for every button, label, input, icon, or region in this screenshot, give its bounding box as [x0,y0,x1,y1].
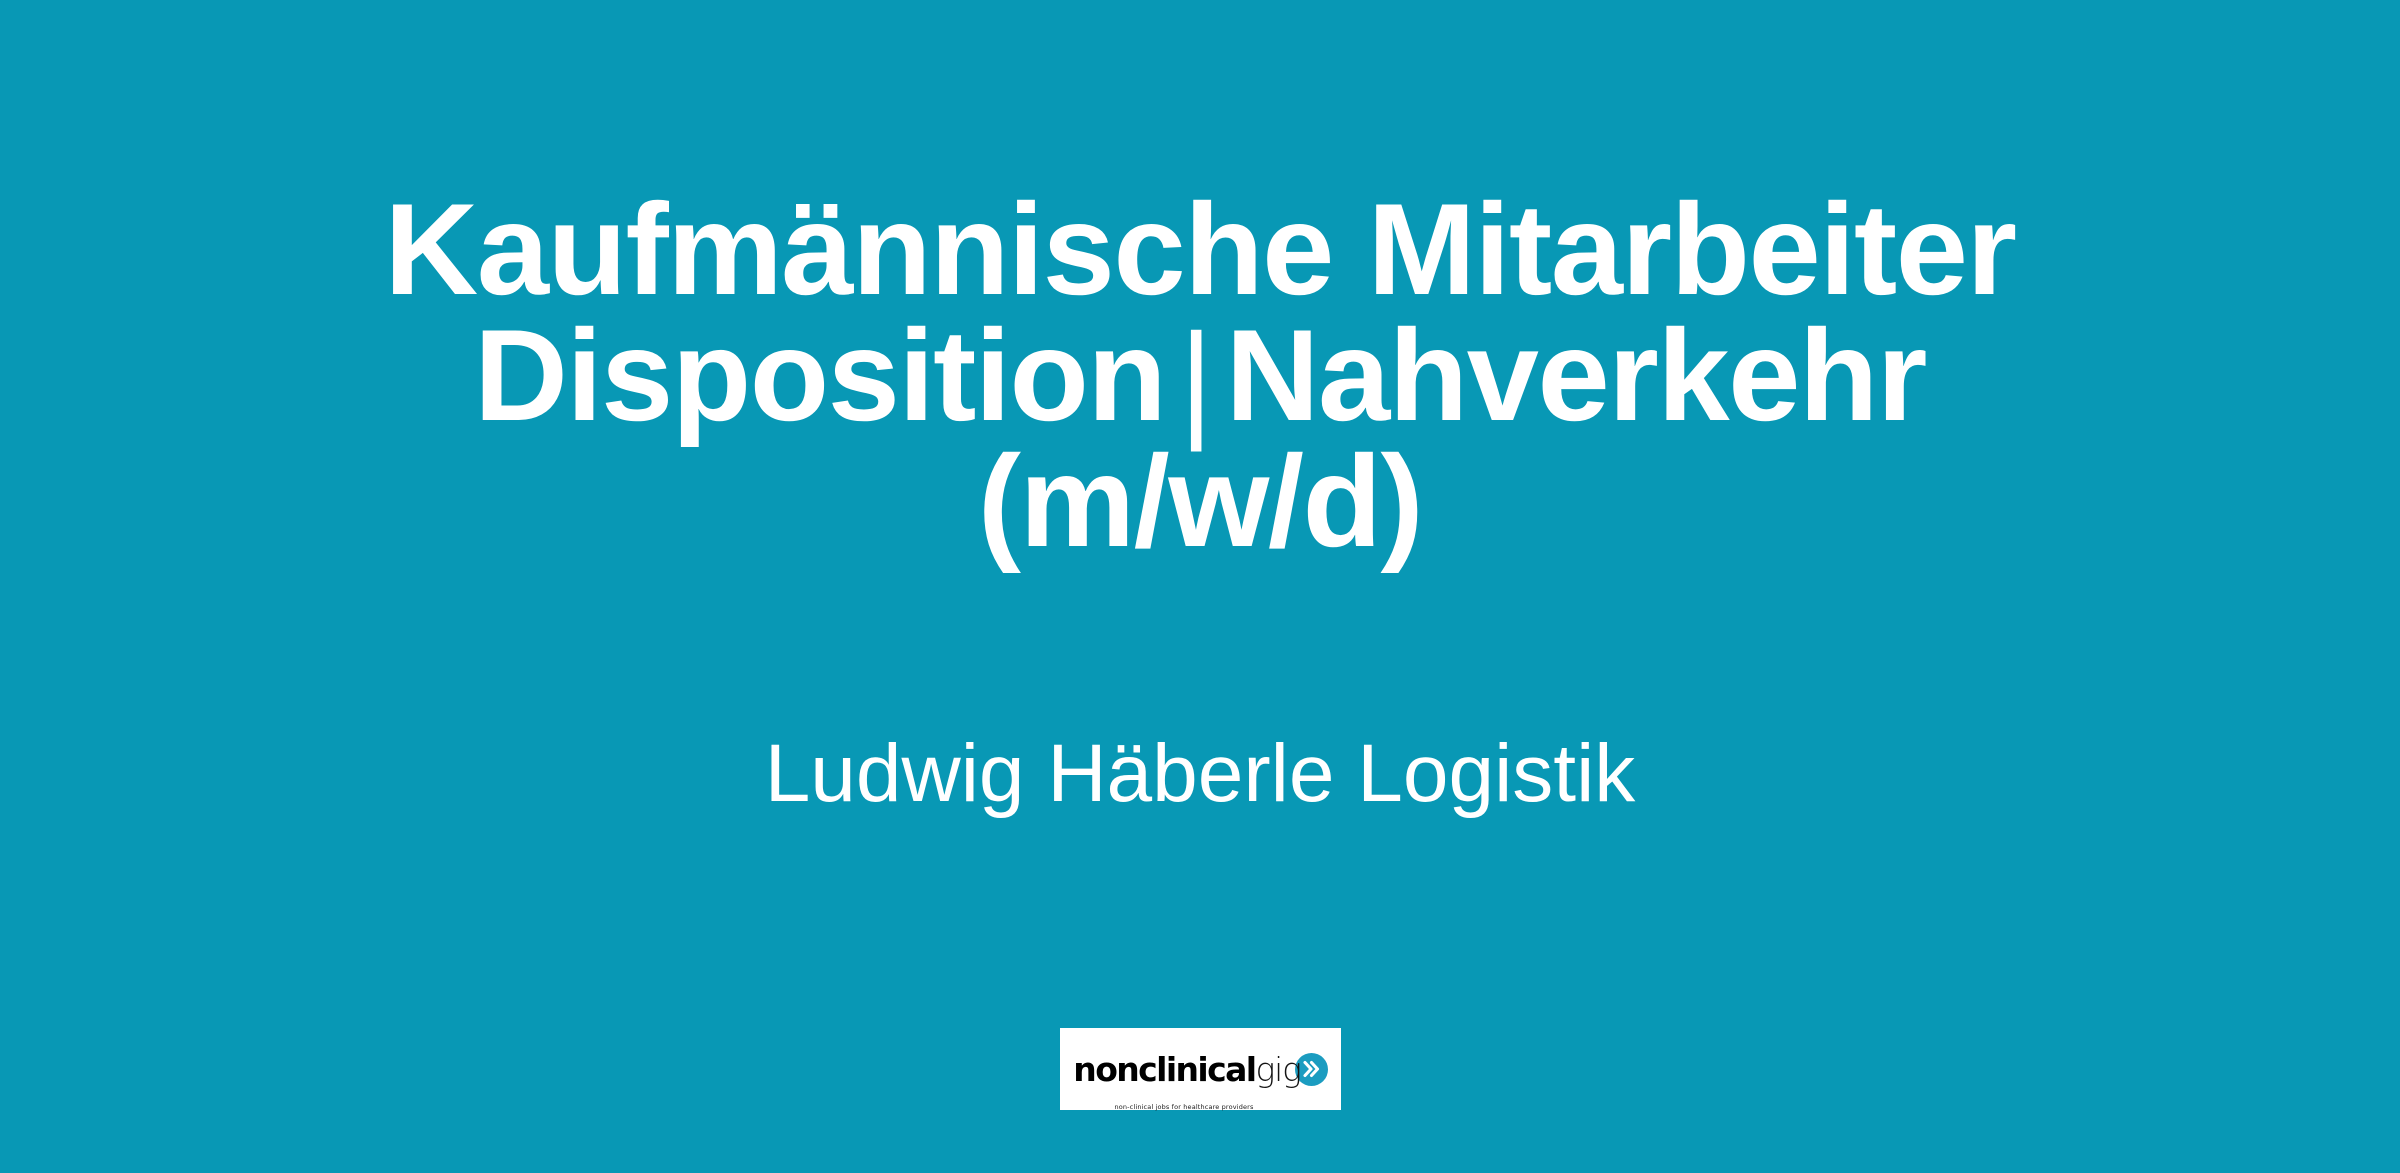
logo-word-nonclinical: nonclinical [1073,1053,1255,1086]
logo-wordmark: nonclinicalgig [1073,1053,1300,1086]
title-line-2-part-a: Disposition [474,302,1165,448]
company-name: Ludwig Häberle Logistik [0,728,2400,820]
page-title: Kaufmännische Mitarbeiter Disposition|Na… [0,186,2400,564]
title-line-1: Kaufmännische Mitarbeiter [0,186,2400,312]
job-posting-card: Kaufmännische Mitarbeiter Disposition|Na… [0,0,2400,1173]
nonclinicalgig-logo[interactable]: nonclinicalgig non-clinical jobs for hea… [1060,1028,1341,1110]
logo-tagline: non-clinical jobs for healthcare provide… [1084,1103,1284,1111]
title-line-2: Disposition|Nahverkehr [0,312,2400,438]
title-separator: | [1165,316,1225,442]
logo-inner: nonclinicalgig non-clinical jobs for hea… [1060,1053,1341,1086]
title-line-2-part-b: Nahverkehr [1226,302,1926,448]
title-line-3: (m/w/d) [0,438,2400,564]
logo-word-gig: gig [1256,1053,1301,1086]
